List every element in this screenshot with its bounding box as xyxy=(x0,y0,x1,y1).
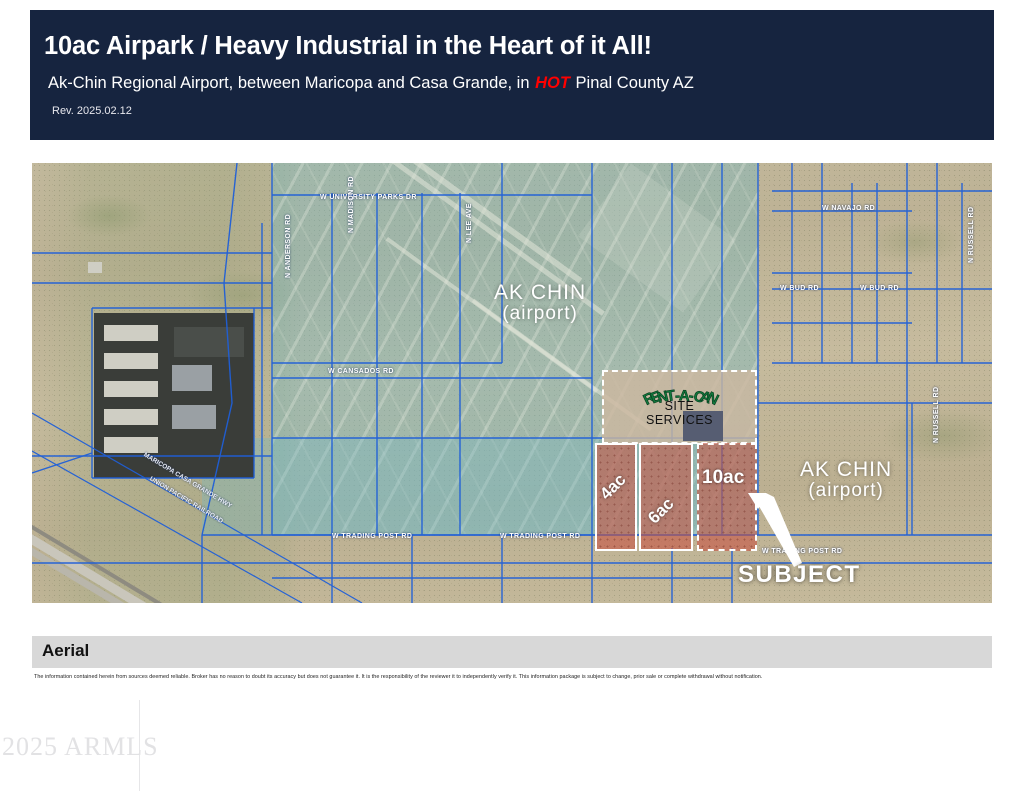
page-title: 10ac Airpark / Heavy Industrial in the H… xyxy=(44,32,652,61)
header-banner: 10ac Airpark / Heavy Industrial in the H… xyxy=(30,10,994,140)
aerial-map[interactable]: W UNIVERSITY PARKS DR W CANSADOS RD W TR… xyxy=(32,163,992,603)
parcel-4ac[interactable]: 4ac xyxy=(595,443,637,551)
parcel-6ac[interactable]: 6ac xyxy=(639,443,693,551)
street-label-navajo-rd: W NAVAJO RD xyxy=(822,205,875,212)
airport-sublabel: (airport) xyxy=(800,480,892,502)
building xyxy=(172,365,212,391)
street-label-university-parks-dr: W UNIVERSITY PARKS DR xyxy=(320,194,417,201)
street-label-russell-rd-1: N RUSSELL RD xyxy=(968,207,975,263)
street-label-cansados-rd: W CANSADOS RD xyxy=(328,368,394,375)
street-label-anderson-rd: N ANDERSON RD xyxy=(285,214,292,278)
subtitle-text-after: Pinal County AZ xyxy=(571,74,694,92)
street-label-lee-ave: N LEE AVE xyxy=(466,203,473,243)
airport-label-east: AK CHIN (airport) xyxy=(800,458,892,502)
revision-date: Rev. 2025.02.12 xyxy=(52,105,132,117)
subtitle-text-before: Ak-Chin Regional Airport, between Marico… xyxy=(48,74,534,92)
street-label-bud-rd-1: W BUD RD xyxy=(780,285,819,292)
street-label-russell-rd-2: N RUSSELL RD xyxy=(933,387,940,443)
street-label-bud-rd-2: W BUD RD xyxy=(860,285,899,292)
watermark-armls: 2025 ARMLS xyxy=(2,732,159,762)
rent-a-can-line2: SITE xyxy=(604,399,755,413)
parking-lot xyxy=(174,327,244,357)
airport-name: AK CHIN xyxy=(494,281,586,304)
rent-a-can-line3: SERVICES xyxy=(604,413,755,427)
street-label-trading-post-rd-1: W TRADING POST RD xyxy=(332,533,412,540)
building xyxy=(104,353,158,369)
airport-sublabel: (airport) xyxy=(494,303,586,325)
disclaimer-text: The information contained herein from so… xyxy=(34,674,996,681)
subject-label: SUBJECT xyxy=(738,561,861,589)
street-label-trading-post-rd-2: W TRADING POST RD xyxy=(500,533,580,540)
section-label-aerial: Aerial xyxy=(42,641,89,661)
airport-name: AK CHIN xyxy=(800,458,892,481)
street-label-madison-rd: N MADISON RD xyxy=(348,176,355,233)
page-subtitle: Ak-Chin Regional Airport, between Marico… xyxy=(48,74,694,93)
parcel-label-10ac: 10ac xyxy=(702,467,744,489)
section-bar: Aerial xyxy=(32,636,992,668)
airport-label-north: AK CHIN (airport) xyxy=(494,281,586,325)
rent-a-can-site: RENT-A-CAN SITE SERVICES xyxy=(602,370,757,444)
outbuilding xyxy=(88,262,102,273)
hot-badge: HOT xyxy=(534,74,571,92)
building xyxy=(104,325,158,341)
